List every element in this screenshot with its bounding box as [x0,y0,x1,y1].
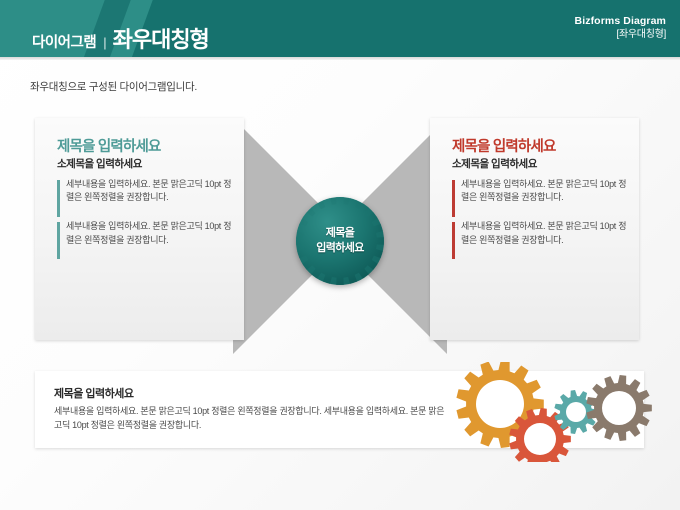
bullet-accent-bar [57,180,60,217]
panel-right-title: 제목을 입력하세요 [452,135,556,156]
bullet-accent-bar [57,222,60,259]
slide-canvas: 다이어그램 | 좌우대칭형 Bizforms Diagram [좌우대칭형] 좌… [0,0,680,510]
panel-left-bullets: 세부내용을 입력하세요. 본문 맑은고딕 10pt 정렬은 왼쪽정렬을 권장합니… [57,178,232,263]
gears-illustration [448,362,663,462]
panel-right-subtitle: 소제목을 입력하세요 [452,156,537,171]
bullet-item: 세부내용을 입력하세요. 본문 맑은고딕 10pt 정렬은 왼쪽정렬을 권장합니… [57,178,232,204]
bullet-item: 세부내용을 입력하세요. 본문 맑은고딕 10pt 정렬은 왼쪽정렬을 권장합니… [452,178,627,204]
panel-right[interactable]: 제목을 입력하세요 소제목을 입력하세요 세부내용을 입력하세요. 본문 맑은고… [430,118,639,340]
gear-brown [586,375,652,441]
center-cog-line2: 입력하세요 [316,241,364,256]
header-title-group: 다이어그램 | 좌우대칭형 [32,22,209,54]
bullet-text: 세부내용을 입력하세요. 본문 맑은고딕 10pt 정렬은 왼쪽정렬을 권장합니… [66,220,232,246]
center-cog-badge[interactable]: 제목을 입력하세요 [296,197,384,285]
bottom-title: 제목을 입력하세요 [54,385,134,401]
header-underline [0,57,680,60]
page-title: 좌우대칭형 [113,22,209,54]
panel-left[interactable]: 제목을 입력하세요 소제목을 입력하세요 세부내용을 입력하세요. 본문 맑은고… [35,118,244,340]
bullet-item: 세부내용을 입력하세요. 본문 맑은고딕 10pt 정렬은 왼쪽정렬을 권장합니… [57,220,232,246]
bullet-text: 세부내용을 입력하세요. 본문 맑은고딕 10pt 정렬은 왼쪽정렬을 권장합니… [66,178,232,204]
panel-right-bullets: 세부내용을 입력하세요. 본문 맑은고딕 10pt 정렬은 왼쪽정렬을 권장합니… [452,178,627,263]
bullet-text: 세부내용을 입력하세요. 본문 맑은고딕 10pt 정렬은 왼쪽정렬을 권장합니… [461,220,627,246]
header-separator: | [103,35,106,50]
header-category: 다이어그램 [32,31,96,52]
header-brand-group: Bizforms Diagram [좌우대칭형] [575,14,666,42]
bullet-item: 세부내용을 입력하세요. 본문 맑은고딕 10pt 정렬은 왼쪽정렬을 권장합니… [452,220,627,246]
panel-left-title: 제목을 입력하세요 [57,135,161,156]
bullet-accent-bar [452,222,455,259]
lead-description: 좌우대칭으로 구성된 다이어그램입니다. [30,79,197,94]
bullet-accent-bar [452,180,455,217]
brand-subtitle: [좌우대칭형] [575,28,666,42]
panel-left-subtitle: 소제목을 입력하세요 [57,156,142,171]
center-cog-label: 제목을 입력하세요 [316,226,364,256]
bullet-text: 세부내용을 입력하세요. 본문 맑은고딕 10pt 정렬은 왼쪽정렬을 권장합니… [461,178,627,204]
slide-header: 다이어그램 | 좌우대칭형 Bizforms Diagram [좌우대칭형] [0,0,680,57]
brand-name: Bizforms Diagram [575,14,666,28]
center-cog-line1: 제목을 [316,226,364,241]
diagram-stage: 제목을 입력하세요 소제목을 입력하세요 세부내용을 입력하세요. 본문 맑은고… [0,118,680,354]
bottom-body: 세부내용을 입력하세요. 본문 맑은고딕 10pt 정렬은 왼쪽정렬을 권장합니… [54,404,449,432]
